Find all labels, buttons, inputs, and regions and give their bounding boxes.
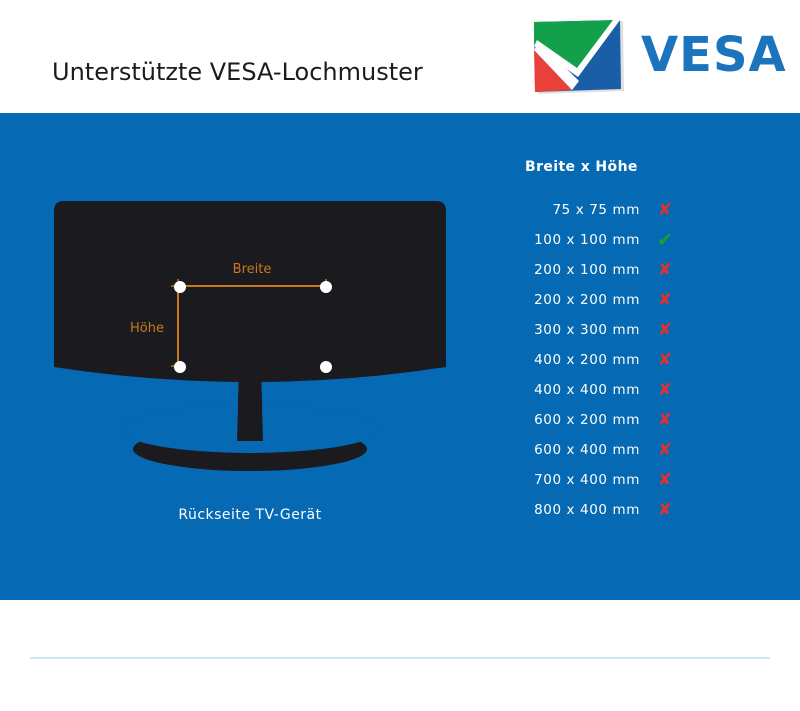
mount-hole-top-left <box>174 281 186 293</box>
page-header: Unterstützte VESA-Lochmuster VESA <box>0 0 800 113</box>
page-title: Unterstützte VESA-Lochmuster <box>52 58 423 86</box>
pattern-size-label: 700 x 400 mm <box>495 472 640 488</box>
pattern-rows-container: 75 x 75 mm✘100 x 100 mm✔200 x 100 mm✘200… <box>495 195 725 525</box>
vesa-info-page: Unterstützte VESA-Lochmuster VESA <box>0 0 800 600</box>
pattern-size-label: 400 x 400 mm <box>495 382 640 398</box>
list-column-header: Breite x Höhe <box>525 159 725 175</box>
pattern-row: 75 x 75 mm✘ <box>495 195 725 225</box>
pattern-row: 100 x 100 mm✔ <box>495 225 725 255</box>
pattern-row: 700 x 400 mm✘ <box>495 465 725 495</box>
pattern-size-label: 200 x 100 mm <box>495 262 640 278</box>
pattern-size-label: 800 x 400 mm <box>495 502 640 518</box>
tv-body-shape <box>54 201 446 382</box>
cross-icon: ✘ <box>640 442 690 459</box>
footer-contact-text: Sie haben Fragen zu der VESA-Norm oder I… <box>30 667 770 711</box>
pattern-size-label: 400 x 200 mm <box>495 352 640 368</box>
pattern-size-label: 600 x 400 mm <box>495 442 640 458</box>
pattern-row: 600 x 400 mm✘ <box>495 435 725 465</box>
cross-icon: ✘ <box>640 472 690 489</box>
vesa-pattern-list: Breite x Höhe 75 x 75 mm✘100 x 100 mm✔20… <box>495 159 725 525</box>
vesa-wordmark: VESA <box>641 25 787 85</box>
pattern-size-label: 300 x 300 mm <box>495 322 640 338</box>
pattern-row: 300 x 300 mm✘ <box>495 315 725 345</box>
cross-icon: ✘ <box>640 322 690 339</box>
pattern-row: 400 x 200 mm✘ <box>495 345 725 375</box>
width-label: Breite <box>233 262 272 277</box>
tv-neck-overlay <box>237 373 263 441</box>
vesa-logo: VESA <box>531 20 777 94</box>
footer-line-1: Sie haben Fragen zu der VESA-Norm oder I… <box>30 667 770 689</box>
footer-line-2: Rufen Sie an, wir helfen gerne weiter! T… <box>30 689 770 711</box>
check-icon: ✔ <box>640 231 690 250</box>
cross-icon: ✘ <box>640 382 690 399</box>
pattern-size-label: 200 x 200 mm <box>495 292 640 308</box>
pattern-row: 800 x 400 mm✘ <box>495 495 725 525</box>
footer-divider <box>30 657 770 659</box>
content-panel: Breite Höhe Rückseite TV-Gerät Breite x … <box>0 113 800 600</box>
pattern-row: 400 x 400 mm✘ <box>495 375 725 405</box>
cross-icon: ✘ <box>640 502 690 519</box>
pattern-row: 200 x 100 mm✘ <box>495 255 725 285</box>
cross-icon: ✘ <box>640 352 690 369</box>
tv-diagram-caption: Rückseite TV-Gerät <box>54 507 446 523</box>
mount-hole-top-right <box>320 281 332 293</box>
mount-hole-bottom-left <box>174 361 186 373</box>
mount-hole-bottom-right <box>320 361 332 373</box>
tv-back-diagram: Breite Höhe <box>54 201 446 501</box>
cross-icon: ✘ <box>640 202 690 219</box>
pattern-size-label: 600 x 200 mm <box>495 412 640 428</box>
cross-icon: ✘ <box>640 412 690 429</box>
height-label: Höhe <box>130 321 164 336</box>
pattern-size-label: 75 x 75 mm <box>495 202 640 218</box>
pattern-row: 200 x 200 mm✘ <box>495 285 725 315</box>
vesa-logo-mark-icon <box>531 20 624 94</box>
pattern-size-label: 100 x 100 mm <box>495 232 640 248</box>
pattern-row: 600 x 200 mm✘ <box>495 405 725 435</box>
cross-icon: ✘ <box>640 262 690 279</box>
cross-icon: ✘ <box>640 292 690 309</box>
